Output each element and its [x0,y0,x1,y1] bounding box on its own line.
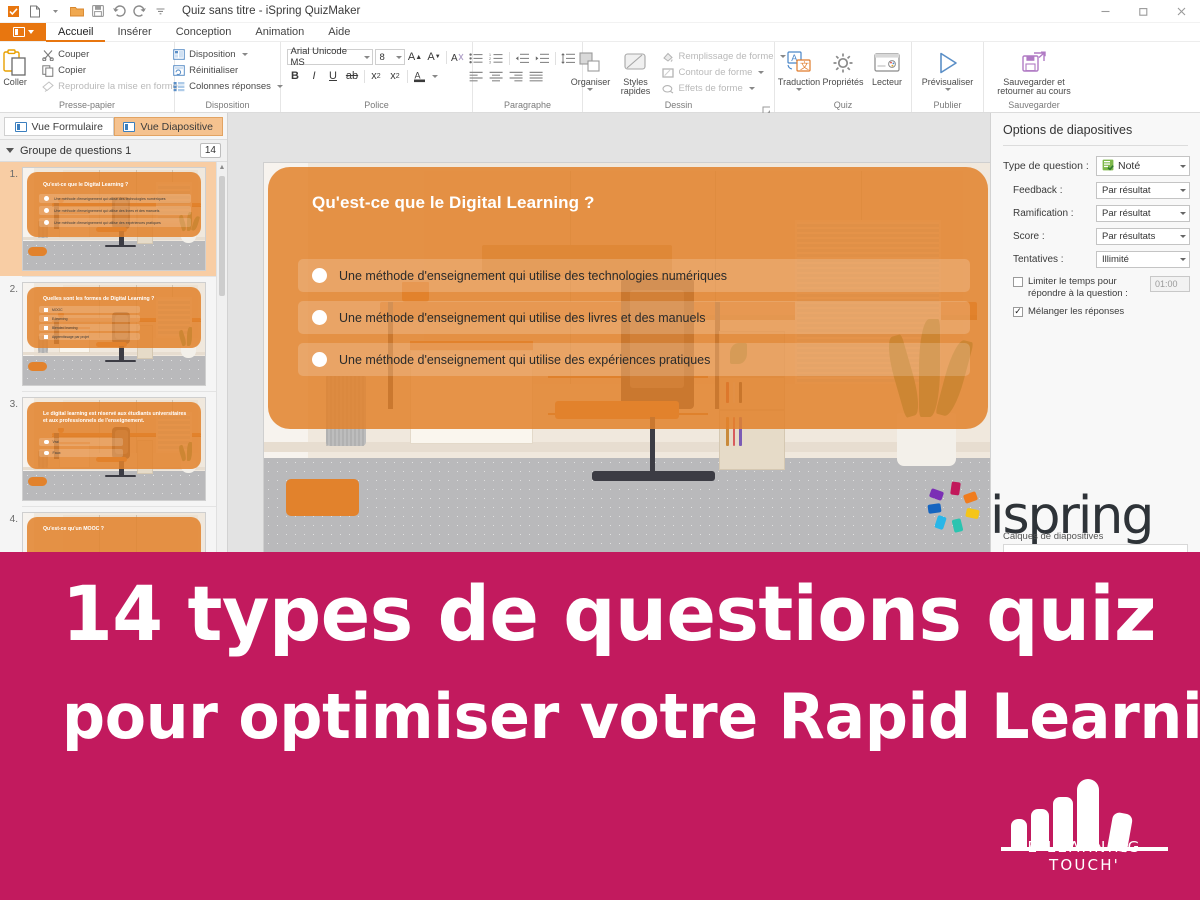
preview-button[interactable]: Prévisualiser [916,46,980,91]
strikethrough-icon[interactable]: ab [344,68,361,84]
shape-fill-label: Remplissage de forme [678,51,773,62]
question-count-badge: 14 [200,143,221,158]
svg-text:A: A [791,53,797,63]
shape-outline-icon [661,66,674,79]
shape-outline-label: Contour de forme [678,67,752,78]
left-panel: Vue Formulaire Vue Diapositive Groupe de… [0,113,228,552]
tab-vue-diapositive[interactable]: Vue Diapositive [114,117,224,136]
branching-label: Ramification : [1013,208,1074,219]
thumbnail-title: Le digital learning est réservé aux étud… [43,411,189,425]
chevron-down-icon [364,56,370,59]
slide-layers-label: Calques de diapositives [1003,531,1103,542]
clipboard-commands: Couper Copier Reproduire l [39,46,180,94]
paste-label: Coller [3,78,27,87]
question-type-label: Type de question : [1003,160,1089,172]
vue-diapositive-label: Vue Diapositive [140,121,213,133]
slide-options-title: Options de diapositives [991,113,1200,145]
justify-icon[interactable] [528,69,545,83]
radio-button-icon[interactable] [312,310,327,325]
layout-group-label: Disposition [181,99,274,112]
layout-label: Disposition [189,49,235,60]
slide-view-icon [123,122,135,132]
chevron-down-icon [28,30,34,34]
chevron-down-icon [796,88,802,91]
feedback-row: Feedback : Par résultat [991,182,1200,205]
chevron-down-icon [242,53,248,56]
layout-button[interactable]: Disposition [170,47,285,62]
ribbon-group-quiz: A文 Traduction Propriétés [775,42,912,112]
divider [1003,145,1188,146]
current-slide[interactable]: Qu'est-ce que le Digital Learning ? Une … [264,163,990,552]
ispring-logo: ispring [926,480,1196,538]
divider [509,52,510,65]
thumbnail-option: Blended learning [52,326,77,330]
clear-formatting-icon[interactable]: A [450,49,467,65]
scrollbar-thumb[interactable] [219,176,225,296]
screenshot-root: Quiz sans titre - iSpring QuizMaker Accu… [0,0,1200,900]
view-toggle: Vue Formulaire Vue Diapositive [0,113,227,139]
align-left-icon[interactable] [468,69,485,83]
scroll-up-arrow-icon[interactable]: ▲ [217,162,227,173]
answer-option-2[interactable]: Une méthode d'enseignement qui utilise d… [298,301,970,334]
thumbnail-title: Qu'est-ce qu'un MOOC ? [43,526,191,532]
question-group-label: Groupe de questions 1 [20,145,131,157]
player-button[interactable]: Lecteur [866,46,908,87]
properties-button[interactable]: Propriétés [822,46,864,87]
copy-icon [41,64,54,77]
time-limit-value: 01:00 [1155,279,1178,289]
logo-text: E-LEARNING TOUCH' [997,838,1172,874]
score-label: Score : [1013,231,1045,242]
properties-label: Propriétés [822,78,863,87]
answer-option-1[interactable]: Une méthode d'enseignement qui utilise d… [298,259,970,292]
cut-label: Couper [58,49,89,60]
numbered-list-icon[interactable]: 123 [488,51,505,65]
shape-outline-button[interactable]: Contour de forme [659,65,787,80]
divider [407,70,408,83]
ribbon-tab-bar: Accueil Insérer Conception Animation Aid… [0,23,1200,42]
thumbnail-option: Vrai [53,440,59,444]
thumbnail-option: Faux [53,451,61,455]
decrease-indent-icon[interactable] [514,51,531,65]
attempts-row: Tentatives : Illimité [991,251,1200,274]
attempts-label: Tentatives : [1013,254,1064,265]
save-and-return-button[interactable]: Sauvegarder et retourner au cours [990,46,1078,97]
thumbnail-option: Une méthode d'enseignement qui utilise d… [54,221,161,225]
thumbnail-number: 3. [2,397,18,410]
superscript-icon[interactable]: x2 [387,68,404,84]
shuffle-checkbox[interactable] [1013,307,1023,317]
score-select[interactable]: Par résultats [1096,228,1190,245]
thumbnail-slide-2[interactable]: 2. [0,277,227,391]
branching-value: Par résultat [1102,208,1151,219]
shape-effects-label: Effets de forme [678,83,742,94]
save-and-return-label: Sauvegarder et retourner au cours [990,78,1078,97]
shape-fill-icon [661,50,674,63]
shape-effects-button[interactable]: Effets de forme [659,81,787,96]
layout-commands: Disposition Réinitialiser [170,46,285,94]
format-painter-icon [41,80,54,93]
feedback-value: Par résultat [1102,185,1151,196]
divider [555,52,556,65]
window-title: Quiz sans titre - iSpring QuizMaker [182,5,360,17]
chevron-down-icon [945,88,951,91]
svg-text:3: 3 [489,60,491,63]
thumbnail-option: E-learning [52,317,67,321]
thumbnail-scrollbar[interactable]: ▲ [216,162,227,552]
quick-styles-label: Styles rapides [614,78,656,97]
chevron-down-icon [1180,189,1186,192]
ribbon-group-font: Arial Unicode MS 8 A▲ A▼ A [281,42,473,112]
slide-thumbnail-list[interactable]: 1. [0,162,227,552]
font-size-select[interactable]: 8 [375,49,405,65]
attempts-value: Illimité [1102,254,1129,265]
format-painter-button[interactable]: Reproduire la mise en forme [39,79,180,94]
graded-question-icon [1102,159,1114,174]
thumbnail-slide-4[interactable]: 4. Qu'est-ce qu'un MOOC ? [0,507,227,552]
restore-icon[interactable] [1124,0,1162,23]
gear-icon [830,48,856,78]
ribbon-group-save: Sauvegarder et retourner au cours Sauveg… [984,42,1084,112]
format-painter-label: Reproduire la mise en forme [58,81,178,92]
time-limit-input[interactable]: 01:00 [1150,276,1190,292]
svg-text:文: 文 [800,60,809,71]
feedback-select[interactable]: Par résultat [1096,182,1190,199]
thumbnail-option: Apprentissage par projet [52,335,89,339]
ribbon-group-layout: Disposition Réinitialiser [175,42,281,112]
copy-label: Copier [58,65,86,76]
answer-option-label: Une méthode d'enseignement qui utilise d… [339,353,710,367]
ispring-quizmaker-window: Quiz sans titre - iSpring QuizMaker Accu… [0,0,1200,552]
player-label: Lecteur [872,78,902,87]
checkbox-icon [44,335,48,339]
reset-label: Réinitialiser [189,65,238,76]
chevron-down-icon [396,56,402,59]
radio-button-icon[interactable] [312,352,327,367]
time-limit-checkbox[interactable] [1013,277,1023,287]
tab-animation[interactable]: Animation [243,23,316,41]
thumbnail-preview[interactable]: Qu'est-ce qu'un MOOC ? [22,512,206,552]
paste-icon [2,48,28,78]
subscript-icon[interactable]: x2 [368,68,385,84]
thumbnail-option: Une méthode d'enseignement qui utilise d… [54,197,166,201]
quick-access-toolbar [6,4,168,19]
promo-banner: 14 types de questions quiz pour optimise… [0,552,1200,900]
tab-conception[interactable]: Conception [164,23,244,41]
ribbon-group-clipboard: Coller Couper Cop [0,42,175,112]
tab-aide[interactable]: Aide [316,23,362,41]
branching-select[interactable]: Par résultat [1096,205,1190,222]
ribbon-group-drawing: Organiser Styles rapides [583,42,775,112]
answer-columns-label: Colonnes réponses [189,81,271,92]
quick-styles-button[interactable]: Styles rapides [614,46,656,97]
answer-option-label: Une méthode d'enseignement qui utilise d… [339,269,727,283]
work-area: Vue Formulaire Vue Diapositive Groupe de… [0,113,1200,552]
svg-text:A: A [414,71,420,81]
shape-fill-button[interactable]: Remplissage de forme [659,49,787,64]
drawing-group-label: Dessin [589,99,768,112]
font-name-value: Arial Unicode MS [291,46,364,68]
ribbon: Coller Couper Cop [0,42,1200,113]
checkbox-icon [44,326,48,330]
translation-icon: A文 [785,48,813,78]
redo-icon[interactable] [132,4,147,19]
chevron-down-icon [758,71,764,74]
chevron-down-icon [1180,165,1186,168]
font-size-value: 8 [380,52,385,63]
chevron-down-icon [749,87,755,90]
file-menu-icon [13,27,25,37]
answer-option-label: Une méthode d'enseignement qui utilise d… [339,311,706,325]
slide-canvas[interactable]: Qu'est-ce que le Digital Learning ? Une … [228,113,990,552]
shrink-font-icon[interactable]: A▼ [426,49,443,65]
thumbnail-preview[interactable]: Quelles sont les formes de Digital Learn… [22,282,206,386]
thumbnail-number: 2. [2,282,18,295]
divider [446,51,447,64]
slide-options-panel: Options de diapositives Type de question… [990,113,1200,552]
layout-icon [172,48,185,61]
reset-button[interactable]: Réinitialiser [170,63,285,78]
thumbnail-option: MOOC [52,308,63,312]
open-folder-icon[interactable] [69,4,84,19]
arrange-button[interactable]: Organiser [569,46,611,91]
align-right-icon[interactable] [508,69,525,83]
title-bar: Quiz sans titre - iSpring QuizMaker [0,0,1200,23]
question-type-select[interactable]: Noté [1096,156,1190,176]
customize-qat-icon[interactable] [153,4,168,19]
translation-label: Traduction [778,78,820,87]
thumbnail-slide-3[interactable]: 3. [0,392,227,506]
grow-font-icon[interactable]: A▲ [407,49,424,65]
checkbox-icon [44,317,48,321]
paragraph-group-label: Paragraphe [479,99,576,112]
shape-commands: Remplissage de forme Contour de forme [659,46,787,96]
italic-icon[interactable]: I [306,68,323,84]
tab-vue-formulaire[interactable]: Vue Formulaire [4,117,114,136]
vue-formulaire-label: Vue Formulaire [32,121,103,133]
chevron-down-icon [1180,212,1186,215]
chevron-down-icon[interactable] [6,148,14,153]
tab-accueil[interactable]: Accueil [46,23,105,41]
play-icon [935,48,961,78]
slide-question-title: Qu'est-ce que le Digital Learning ? [312,193,958,213]
file-menu-button[interactable] [0,23,46,41]
new-dropdown-caret-icon[interactable] [48,4,63,19]
new-document-icon[interactable] [27,4,42,19]
score-row: Score : Par résultats [991,228,1200,251]
tab-inserer[interactable]: Insérer [105,23,163,41]
question-type-value: Noté [1118,160,1140,172]
attempts-select[interactable]: Illimité [1096,251,1190,268]
svg-text:A: A [451,53,458,63]
publish-group-label: Publier [918,99,977,112]
paste-button[interactable]: Coller [0,46,36,87]
save-group-label: Sauvegarder [990,99,1078,112]
thumbnail-number: 4. [2,512,18,525]
font-color-icon[interactable]: A [411,68,428,84]
time-limit-row[interactable]: Limiter le temps pour répondre à la ques… [991,274,1200,300]
branching-row: Ramification : Par résultat [991,205,1200,228]
drawing-dialog-launcher-icon[interactable] [762,102,771,111]
app-save-icon[interactable] [6,4,21,19]
copy-button[interactable]: Copier [39,63,180,78]
feedback-label: Feedback : [1013,185,1062,196]
player-icon [873,48,901,78]
thumbnail-title: Qu'est-ce que le Digital Learning ? [43,182,191,188]
minimize-icon[interactable] [1086,0,1124,23]
score-value: Par résultats [1102,231,1155,242]
shape-effects-icon [661,82,674,95]
increase-indent-icon[interactable] [534,51,551,65]
underline-icon[interactable]: U [325,68,342,84]
answer-columns-button[interactable]: Colonnes réponses [170,79,285,94]
scissors-icon [41,48,54,61]
thumbnail-preview[interactable]: Le digital learning est réservé aux étud… [22,397,206,501]
slide-layers-box[interactable] [1003,544,1188,552]
thumbnail-preview[interactable]: Qu'est-ce que le Digital Learning ? Une … [22,167,206,271]
window-controls [1086,0,1200,23]
time-limit-label: Limiter le temps pour répondre à la ques… [1028,276,1136,300]
thumbnail-option: Une méthode d'enseignement qui utilise d… [54,209,159,213]
ispring-mark-icon [926,480,984,538]
cut-button[interactable]: Couper [39,47,180,62]
answer-option-3[interactable]: Une méthode d'enseignement qui utilise d… [298,343,970,376]
font-name-select[interactable]: Arial Unicode MS [287,49,373,65]
thumbnail-slide-1[interactable]: 1. [0,162,227,276]
columns-icon [172,80,185,93]
align-center-icon[interactable] [488,69,505,83]
thumbnail-title: Quelles sont les formes de Digital Learn… [43,296,191,302]
chevron-down-icon[interactable] [432,75,438,78]
close-icon[interactable] [1162,0,1200,23]
arrange-label: Organiser [571,78,611,87]
arrange-icon [577,48,603,78]
clipboard-group-label: Presse-papier [6,99,168,112]
quick-styles-icon [622,48,648,78]
font-group-label: Police [287,99,466,112]
ribbon-group-publish: Prévisualiser Publier [912,42,984,112]
preview-label: Prévisualiser [922,78,974,87]
thumbnail-number: 1. [2,167,18,180]
bold-icon[interactable]: B [287,68,304,84]
radio-button-icon[interactable] [312,268,327,283]
form-view-icon [15,122,27,132]
banner-subheadline: pour optimiser votre Rapid Learning [62,686,1200,748]
question-type-row: Type de question : Noté [991,156,1200,182]
chevron-down-icon [587,88,593,91]
shuffle-label: Mélanger les réponses [1028,306,1124,318]
chevron-down-icon [1180,258,1186,261]
save-return-icon [1020,48,1048,78]
reset-icon [172,64,185,77]
banner-headline: 14 types de questions quiz [62,576,1156,652]
undo-icon[interactable] [111,4,126,19]
question-card: Qu'est-ce que le Digital Learning ? Une … [268,167,988,429]
bullet-list-icon[interactable] [468,51,485,65]
divider [364,70,365,83]
ribbon-group-paragraph: 123 [473,42,583,112]
question-group-header[interactable]: Groupe de questions 1 14 [0,139,227,162]
chevron-down-icon [1180,235,1186,238]
translation-button[interactable]: A文 Traduction [778,46,820,91]
checkbox-icon [44,308,48,312]
quiz-group-label: Quiz [781,99,905,112]
e-learning-touch-logo: E-LEARNING TOUCH' [997,773,1172,878]
save-disk-icon[interactable] [90,4,105,19]
shuffle-row[interactable]: Mélanger les réponses [991,300,1200,318]
